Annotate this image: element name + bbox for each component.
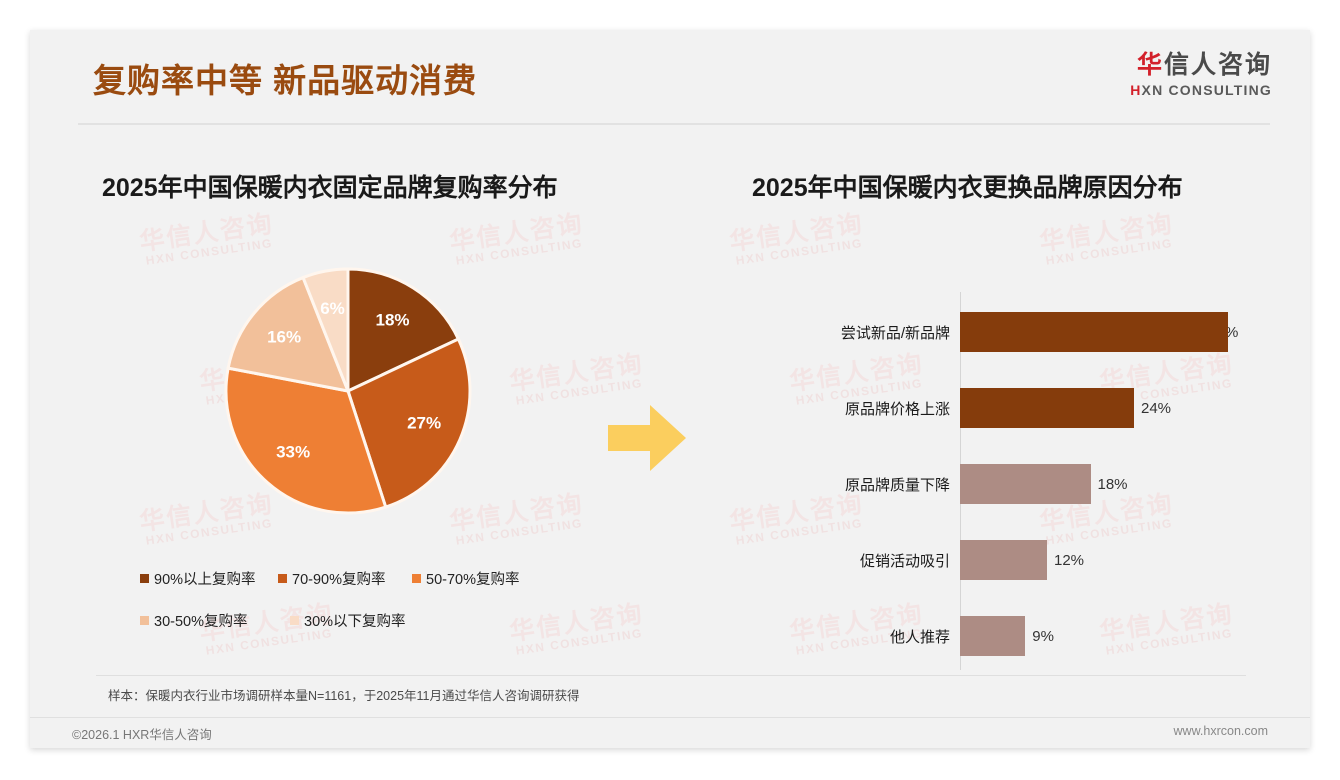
legend-label: 50-70%复购率 [426,568,519,589]
logo-cn-rest: 信人咨询 [1164,51,1272,79]
bar-track: 12% [960,540,1290,580]
bar-category-label: 促销活动吸引 [790,550,960,571]
legend-color-swatch [140,574,149,583]
pie-slice-label: 33% [276,443,310,462]
legend-label: 30-50%复购率 [154,610,247,631]
bar-category-label: 原品牌价格上涨 [790,398,960,419]
legend-color-swatch [290,616,299,625]
bar-track: 18% [960,464,1290,504]
pie-legend-row: 90%以上复购率70-90%复购率50-70%复购率 [140,568,610,589]
bar-track: 9% [960,616,1290,656]
bar-chart-row: 促销活动吸引12% [790,540,1290,580]
watermark-text: 华信人咨询HXN CONSULTING [138,211,277,268]
logo-en-rest: XN CONSULTING [1142,82,1272,98]
bar-chart-row: 他人推荐9% [790,616,1290,656]
slide-header: 复购率中等 新品驱动消费 华信人咨询 HXN CONSULTING [30,30,1310,118]
left-chart-title: 2025年中国保暖内衣固定品牌复购率分布 [102,168,558,204]
pie-slice-label: 16% [267,328,301,347]
source-footnote: 样本：保暖内衣行业市场调研样本量N=1161，于2025年11月通过华信人咨询调… [108,685,580,704]
slide-footer: ©2026.1 HXR华信人咨询 www.hxrcon.com [30,718,1310,748]
legend-label: 70-90%复购率 [292,568,385,589]
bar-category-label: 他人推荐 [790,626,960,647]
website-url[interactable]: www.hxrcon.com [1174,724,1268,738]
pie-chart: 18%27%33%16%6% [223,266,473,516]
footnote-divider [96,675,1246,676]
legend-color-swatch [140,616,149,625]
pie-legend-item[interactable]: 30-50%复购率 [140,610,290,631]
watermark-text: 华信人咨询HXN CONSULTING [508,351,647,408]
bar-fill[interactable] [960,464,1091,504]
bar-category-label: 原品牌质量下降 [790,474,960,495]
logo-chinese-text: 华信人咨询 [1130,52,1272,80]
copyright-text: ©2026.1 HXR华信人咨询 [72,724,212,743]
bar-chart: 尝试新品/新品牌37%原品牌价格上涨24%原品牌质量下降18%促销活动吸引12%… [790,292,1290,670]
bar-value-label: 12% [1054,552,1084,569]
pie-legend-item[interactable]: 70-90%复购率 [278,568,412,589]
bar-value-label: 9% [1032,628,1054,645]
legend-color-swatch [412,574,421,583]
legend-label: 30%以下复购率 [304,610,406,631]
watermark-text: 华信人咨询HXN CONSULTING [728,211,867,268]
bar-value-label: 24% [1141,400,1171,417]
logo-en-accent-char: H [1130,82,1141,98]
bar-value-label: 18% [1098,476,1128,493]
arrow-right-icon [608,403,686,473]
bar-chart-row: 尝试新品/新品牌37% [790,312,1290,352]
pie-slice-label: 27% [407,413,441,432]
right-chart-title: 2025年中国保暖内衣更换品牌原因分布 [752,168,1183,204]
logo-cn-accent-char: 华 [1137,51,1164,79]
pie-legend-item[interactable]: 50-70%复购率 [412,568,519,589]
bar-fill[interactable] [960,312,1228,352]
bar-chart-row: 原品牌价格上涨24% [790,388,1290,428]
pie-legend-row: 30-50%复购率30%以下复购率 [140,610,610,631]
watermark-text: 华信人咨询HXN CONSULTING [1038,211,1177,268]
bar-track: 37% [960,312,1290,352]
legend-label: 90%以上复购率 [154,568,256,589]
title-divider [78,123,1270,125]
bar-fill[interactable] [960,616,1025,656]
bar-fill[interactable] [960,388,1134,428]
bar-chart-row: 原品牌质量下降18% [790,464,1290,504]
arrow-right-icon-svg [608,403,686,473]
pie-slice-label: 6% [320,299,345,318]
slide-canvas: 华信人咨询HXN CONSULTING华信人咨询HXN CONSULTING华信… [30,30,1310,748]
page-title: 复购率中等 新品驱动消费 [93,54,477,102]
pie-legend: 90%以上复购率70-90%复购率50-70%复购率30-50%复购率30%以下… [140,568,610,652]
pie-slice-label: 18% [375,310,409,329]
pie-legend-item[interactable]: 30%以下复购率 [290,610,406,631]
pie-legend-item[interactable]: 90%以上复购率 [140,568,278,589]
bar-fill[interactable] [960,540,1047,580]
brand-logo: 华信人咨询 HXN CONSULTING [1130,52,1272,98]
bar-track: 24% [960,388,1290,428]
watermark-text: 华信人咨询HXN CONSULTING [448,211,587,268]
logo-english-text: HXN CONSULTING [1130,82,1272,98]
legend-color-swatch [278,574,287,583]
bar-category-label: 尝试新品/新品牌 [790,322,960,343]
pie-chart-svg: 18%27%33%16%6% [223,266,473,516]
